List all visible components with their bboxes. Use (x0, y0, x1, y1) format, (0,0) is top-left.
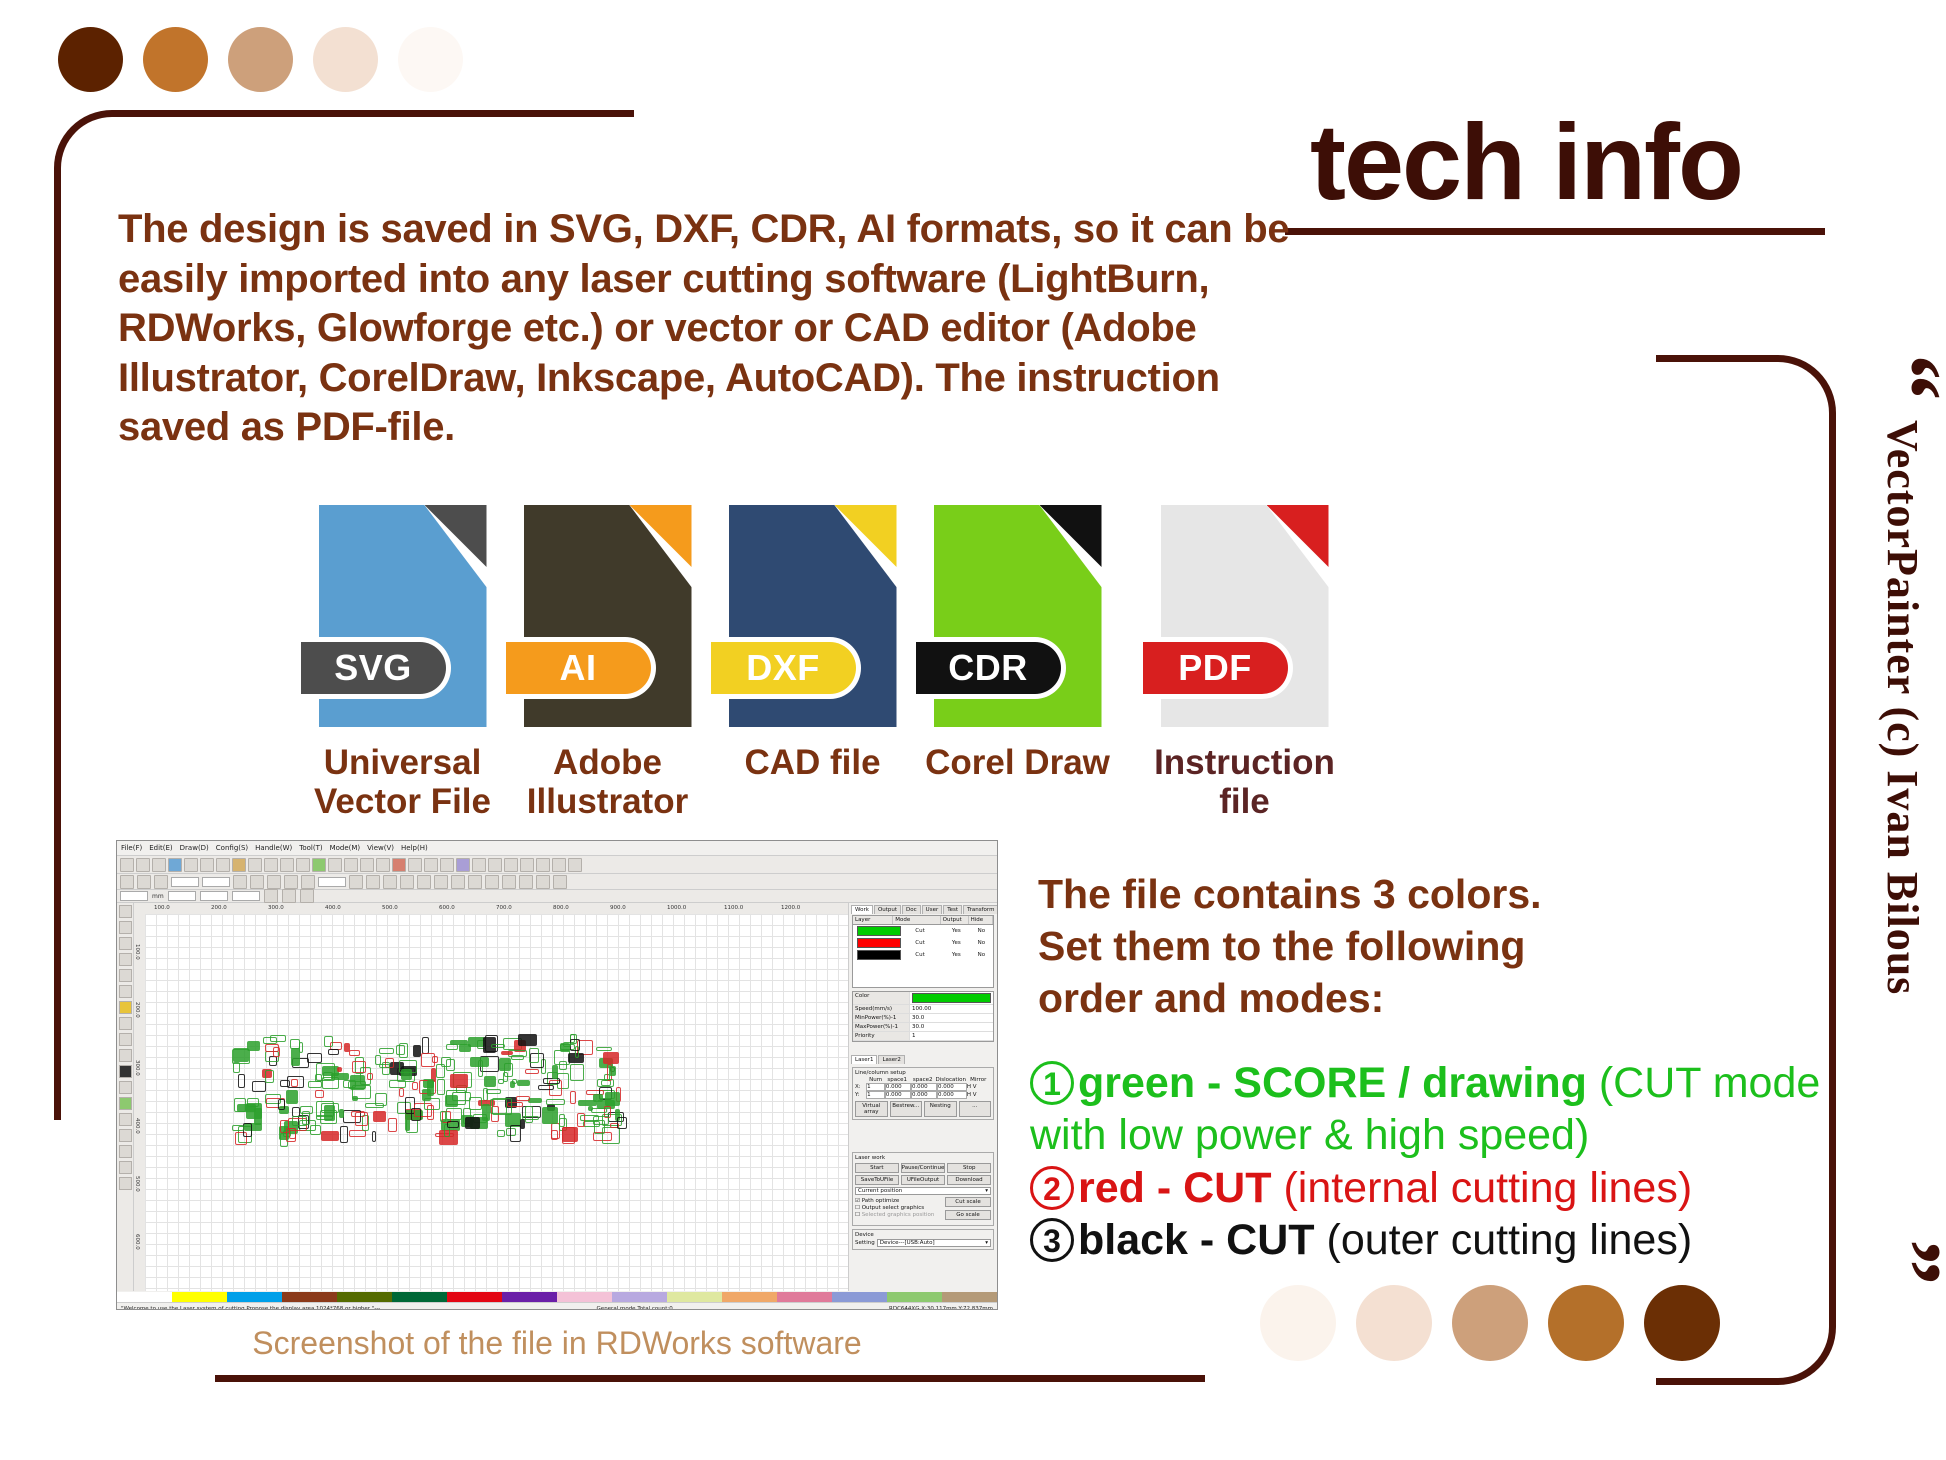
palette-swatch[interactable] (942, 1292, 997, 1302)
ruler-tick: 300.0 (268, 905, 284, 911)
palette-dot-2 (1452, 1285, 1528, 1361)
artwork-shape (596, 1047, 612, 1051)
laser-button-download[interactable]: Download (947, 1175, 991, 1185)
menu-item[interactable]: File(F) (121, 844, 142, 852)
artwork-shape (422, 1037, 430, 1054)
file-extension-badge: AI (506, 637, 656, 699)
file-format-list: SVGUniversalVector FileAIAdobeIllustrato… (300, 505, 1347, 821)
column-header: Hide (969, 916, 993, 924)
artwork-shape (450, 1074, 468, 1089)
artwork-shape (543, 1078, 560, 1084)
layer-row[interactable]: CutYesNo (853, 925, 993, 937)
artwork-shape (603, 1052, 620, 1065)
line-buttons[interactable]: Virtual arrayBestrew...Nesting... (855, 1101, 991, 1117)
palette-top (58, 27, 463, 92)
ruler-tick: 300.0 (134, 1060, 140, 1076)
artwork-shape (286, 1128, 296, 1142)
quote-open-icon: “ (1877, 354, 1941, 400)
layer-hide: No (970, 940, 993, 946)
menu-item[interactable]: Mode(M) (330, 844, 361, 852)
property-value (910, 992, 993, 1004)
ruler-tick: 800.0 (553, 905, 569, 911)
palette-swatch[interactable] (447, 1292, 502, 1302)
ruler-tick: 600.0 (439, 905, 455, 911)
axis-label: X: (855, 1084, 866, 1090)
color-mode-note: (outer cutting lines) (1315, 1216, 1693, 1264)
ruler-tick: 500.0 (134, 1176, 140, 1192)
artwork-shape (459, 1044, 471, 1052)
design-artwork[interactable] (229, 1033, 629, 1143)
step-number-badge: 2 (1030, 1166, 1074, 1210)
artwork-shape (349, 1130, 366, 1136)
rdworks-right-panel[interactable]: WorkOutputDocUserTestTransform LayerMode… (848, 903, 997, 1291)
artwork-shape (478, 1060, 483, 1077)
artwork-shape (591, 1108, 608, 1113)
artwork-shape (617, 1117, 627, 1129)
palette-swatch[interactable] (392, 1292, 447, 1302)
file-format-svg: SVGUniversalVector File (300, 505, 505, 821)
tab-work[interactable]: Work (851, 905, 873, 914)
setting-label: Setting (855, 1240, 875, 1246)
position-value: Current position (858, 1188, 902, 1194)
artwork-shape (321, 1131, 339, 1141)
rdworks-screenshot: File(F)Edit(E)Draw(D)Config(S)Handle(W)T… (116, 840, 998, 1310)
artwork-shape (232, 1125, 244, 1131)
artwork-shape (328, 1049, 339, 1055)
artwork-shape (233, 1048, 249, 1061)
rdworks-statusbar: "Welcome to use the Laser system of cutt… (117, 1302, 997, 1310)
palette-dot-3 (313, 27, 378, 92)
rdworks-tools-sidebar[interactable] (117, 903, 134, 1291)
color-mode-label: black - CUT (1078, 1216, 1315, 1264)
artwork-shape (265, 1070, 274, 1083)
artwork-shape (538, 1085, 553, 1090)
artwork-shape (401, 1069, 412, 1080)
color-palette-bar[interactable] (117, 1292, 997, 1302)
poster-root: tech info The design is saved in SVG, DX… (0, 0, 1946, 1460)
menu-item[interactable]: Tool(T) (299, 844, 322, 852)
file-format-pdf: PDFInstruction file (1142, 505, 1347, 821)
ai-file-icon: AI (524, 505, 692, 727)
menu-item[interactable]: Draw(D) (180, 844, 209, 852)
property-row[interactable]: MaxPower(%)-130.0 (853, 1023, 993, 1032)
laser-work-title: Laser work (855, 1155, 991, 1161)
status-left: "Welcome to use the Laser system of cutt… (121, 1306, 380, 1310)
credit-text: VectorPainter (c) Ivan Bilous (1877, 420, 1928, 995)
checkbox-label: Selected graphics position (862, 1212, 935, 1218)
laser-button-start[interactable]: Start (855, 1163, 899, 1173)
device-select[interactable]: Device---[USB:Auto] ▾ (877, 1239, 991, 1247)
file-extension-badge: SVG (301, 637, 451, 699)
file-format-label: UniversalVector File (300, 743, 505, 821)
artwork-shape (310, 1125, 321, 1134)
artwork-shape (372, 1131, 376, 1142)
artwork-shape (307, 1053, 322, 1063)
device-group[interactable]: Device Setting Device---[USB:Auto] ▾ (852, 1229, 994, 1250)
palette-swatch[interactable] (227, 1292, 282, 1302)
ruler-tick: 900.0 (610, 905, 626, 911)
status-right: RDC644XG,X:30.117mm,Y:72.837mm (889, 1306, 993, 1310)
checkbox-icon[interactable]: ☐ (855, 1212, 862, 1218)
tab-doc[interactable]: Doc (902, 905, 921, 914)
palette-swatch[interactable] (282, 1292, 337, 1302)
rdworks-caption: Screenshot of the file in RDWorks softwa… (116, 1325, 998, 1362)
color-mode-label: green - SCORE / drawing (1078, 1059, 1587, 1107)
artwork-shape (316, 1101, 334, 1116)
artwork-shape (286, 1090, 298, 1104)
layer-mode: Cut (897, 940, 943, 946)
artwork-shape (290, 1039, 301, 1048)
laser-button-pause-continue[interactable]: Pause/Continue (901, 1163, 946, 1173)
artwork-shape (491, 1044, 505, 1049)
chevron-down-icon[interactable]: ▾ (985, 1188, 988, 1194)
tab-output[interactable]: Output (874, 905, 901, 914)
column-header: Output (941, 916, 969, 924)
side-button-go-scale[interactable]: Go scale (945, 1210, 991, 1220)
title-underline (1285, 228, 1825, 235)
file-extension-badge: DXF (711, 637, 861, 699)
laser-button-row: StartPause/ContinueStop (855, 1163, 991, 1173)
layer-row[interactable]: CutYesNo (853, 937, 993, 949)
palette-swatch[interactable] (722, 1292, 777, 1302)
menu-item[interactable]: Help(H) (401, 844, 428, 852)
step-number-badge: 3 (1030, 1218, 1074, 1262)
tab-user[interactable]: User (922, 905, 943, 914)
color-instruction-item: 3black - CUT (outer cutting lines) (1030, 1214, 1830, 1266)
artwork-shape (450, 1040, 469, 1045)
rdworks-canvas[interactable]: 100.0200.0300.0400.0500.0600.0700.0800.0… (134, 903, 848, 1291)
file-format-label: AdobeIllustrator (505, 743, 710, 821)
artwork-shape (352, 1061, 366, 1073)
menu-item[interactable]: View(V) (367, 844, 394, 852)
page-title: tech info (1310, 108, 1742, 216)
artwork-shape (278, 1099, 285, 1110)
artwork-shape (605, 1092, 621, 1106)
layer-mode: Cut (897, 928, 943, 934)
dxf-file-icon: DXF (729, 505, 897, 727)
tab-transform[interactable]: Transform (963, 905, 998, 914)
panel-tabs[interactable]: WorkOutputDocUserTestTransform (849, 903, 997, 914)
color-swatch[interactable] (912, 993, 991, 1003)
artwork-shape (562, 1127, 579, 1142)
file-format-cdr: CDRCorel Draw (915, 505, 1120, 782)
line-field[interactable]: H V (967, 1092, 991, 1098)
property-key: Speed(mm/s) (853, 1005, 910, 1013)
artwork-shape (389, 1080, 407, 1088)
artwork-shape (563, 1042, 570, 1047)
artwork-shape (570, 1064, 583, 1081)
palette-dot-4 (398, 27, 463, 92)
artwork-shape (324, 1036, 333, 1047)
column-header (855, 1077, 867, 1083)
line-field[interactable]: 0.000 (937, 1083, 967, 1091)
property-value: 30.0 (910, 1023, 993, 1031)
artwork-shape (375, 1055, 381, 1065)
artwork-shape (546, 1099, 566, 1105)
ruler-tick: 500.0 (382, 905, 398, 911)
side-button-cut-scale[interactable]: Cut scale (945, 1197, 991, 1207)
line-field[interactable]: 0.000 (885, 1083, 911, 1091)
laser-tabs[interactable]: Laser1Laser2 (849, 1053, 997, 1064)
rdworks-toolbar-secondary[interactable] (117, 874, 997, 890)
ruler-tick: 100.0 (154, 905, 170, 911)
rdworks-menubar[interactable]: File(F)Edit(E)Draw(D)Config(S)Handle(W)T… (117, 841, 997, 856)
layer-output: Yes (943, 952, 970, 958)
menu-item[interactable]: Edit(E) (149, 844, 172, 852)
palette-swatch[interactable] (557, 1292, 612, 1302)
palette-swatch[interactable] (612, 1292, 667, 1302)
palette-dot-3 (1548, 1285, 1624, 1361)
property-value: 1 (910, 1032, 993, 1040)
palette-swatch[interactable] (777, 1292, 832, 1302)
file-format-label: Corel Draw (915, 743, 1120, 782)
artwork-shape (291, 1048, 300, 1065)
palette-dot-4 (1644, 1285, 1720, 1361)
line-field[interactable]: 0.000 (911, 1091, 937, 1099)
line-setup-row[interactable]: Y:10.0000.0000.000H V (855, 1091, 991, 1099)
artwork-shape (412, 1082, 418, 1090)
artwork-shape (379, 1064, 390, 1069)
line-button[interactable]: Virtual array (855, 1101, 888, 1117)
ruler-tick: 700.0 (496, 905, 512, 911)
laser-button-ufileoutput[interactable]: UFileOutput (901, 1175, 945, 1185)
property-key: MaxPower(%)-1 (853, 1023, 910, 1031)
svg-file-icon: SVG (319, 505, 487, 727)
device-value: Device---[USB:Auto] (880, 1240, 935, 1246)
property-value: 30.0 (910, 1014, 993, 1022)
palette-dot-0 (58, 27, 123, 92)
line-field[interactable]: 1 (866, 1083, 885, 1091)
artwork-shape (609, 1066, 616, 1076)
chevron-down-icon[interactable]: ▾ (985, 1240, 988, 1246)
artwork-shape (499, 1058, 510, 1071)
tab-laser1[interactable]: Laser1 (851, 1055, 877, 1064)
artwork-shape (501, 1051, 513, 1055)
artwork-shape (344, 1043, 351, 1052)
layer-mode: Cut (897, 952, 943, 958)
artwork-shape (516, 1096, 531, 1101)
line-field[interactable]: H V (967, 1084, 991, 1090)
artwork-shape (413, 1045, 422, 1057)
property-row[interactable]: Priority1 (853, 1032, 993, 1041)
rdworks-toolbar-main[interactable] (117, 856, 997, 874)
artwork-shape (465, 1117, 480, 1130)
line-column-title: Line/column setup (855, 1070, 991, 1076)
artwork-shape (517, 1080, 530, 1086)
line-button[interactable]: Nesting (924, 1101, 957, 1117)
line-button[interactable]: Bestrew... (890, 1101, 923, 1117)
property-row[interactable]: Color (853, 992, 993, 1005)
artwork-shape (315, 1090, 324, 1098)
decorative-frame-bottom (215, 1375, 1205, 1382)
position-select[interactable]: Current position ▾ (855, 1187, 991, 1195)
checkbox-icon[interactable]: ☑ (855, 1198, 862, 1204)
artwork-shape (437, 1079, 445, 1096)
artwork-shape (388, 1118, 398, 1132)
column-header: Mode (893, 916, 940, 924)
step-number-badge: 1 (1030, 1061, 1074, 1105)
property-value: 100.00 (910, 1005, 993, 1013)
ruler-tick: 100.0 (134, 944, 140, 960)
layer-table[interactable]: LayerModeOutputHide CutYesNoCutYesNoCutY… (852, 915, 994, 988)
line-field[interactable]: 0.000 (911, 1083, 937, 1091)
line-field[interactable]: 1 (866, 1091, 885, 1099)
ruler-tick: 600.0 (134, 1234, 140, 1250)
artwork-shape (315, 1074, 321, 1082)
file-format-dxf: DXFCAD file (710, 505, 915, 782)
artwork-shape (529, 1048, 539, 1062)
checkbox-label: Output select graphics (862, 1205, 924, 1211)
artwork-shape (525, 1069, 539, 1074)
artwork-shape (446, 1108, 463, 1120)
artwork-shape (367, 1073, 372, 1080)
artwork-shape (349, 1050, 361, 1056)
layer-output: Yes (943, 928, 970, 934)
line-button[interactable]: ... (959, 1101, 992, 1117)
column-header: Mirror (965, 1077, 991, 1083)
artwork-shape (559, 1061, 567, 1070)
cdr-file-icon: CDR (934, 505, 1102, 727)
tab-test[interactable]: Test (943, 905, 962, 914)
line-field[interactable]: 0.000 (937, 1091, 967, 1099)
device-title: Device (855, 1232, 991, 1238)
layer-row[interactable]: CutYesNo (853, 949, 993, 961)
file-format-ai: AIAdobeIllustrator (505, 505, 710, 821)
palette-swatch[interactable] (337, 1292, 392, 1302)
layer-color-swatch[interactable] (857, 938, 901, 948)
artwork-shape (452, 1092, 471, 1101)
palette-swatch[interactable] (832, 1292, 887, 1302)
rdworks-coordinate-bar[interactable]: mm (117, 890, 997, 903)
artwork-shape (238, 1074, 245, 1088)
ruler-tick: 1000.0 (667, 905, 686, 911)
file-format-label: CAD file (710, 743, 915, 782)
artwork-shape (243, 1123, 252, 1137)
menu-item[interactable]: Handle(W) (255, 844, 292, 852)
palette-swatch[interactable] (117, 1292, 172, 1302)
palette-bottom (1260, 1285, 1720, 1361)
color-instruction-item: 2red - CUT (internal cutting lines) (1030, 1162, 1830, 1214)
palette-swatch[interactable] (172, 1292, 227, 1302)
color-mode-label: red - CUT (1078, 1164, 1272, 1212)
artwork-shape (339, 1109, 344, 1117)
artwork-shape (246, 1103, 262, 1119)
colors-heading: The file contains 3 colors. Set them to … (1038, 868, 1598, 1024)
line-field[interactable]: 0.000 (885, 1091, 911, 1099)
artwork-shape (577, 1113, 585, 1127)
pdf-file-icon: PDF (1161, 505, 1329, 727)
artwork-shape (518, 1034, 537, 1045)
line-column-setup[interactable]: Line/column setup Numspace1space2Disloca… (852, 1067, 994, 1120)
axis-label: Y: (855, 1092, 866, 1098)
quote-close-icon: ” (1877, 1239, 1941, 1285)
artwork-shape (375, 1093, 387, 1105)
artwork-shape (492, 1098, 512, 1115)
file-extension-badge: CDR (916, 637, 1066, 699)
artwork-shape (373, 1111, 386, 1122)
artwork-shape (436, 1064, 445, 1079)
layer-color-swatch[interactable] (857, 950, 901, 960)
artwork-shape (355, 1112, 367, 1126)
property-row[interactable]: MinPower(%)-130.0 (853, 1014, 993, 1023)
artwork-shape (427, 1080, 434, 1095)
checkbox-row[interactable]: ☑ Path optimize (855, 1198, 943, 1204)
property-row[interactable]: Speed(mm/s)100.00 (853, 1005, 993, 1014)
laser-button-row: SaveToUFileUFileOutputDownload (855, 1175, 991, 1185)
ruler-tick: 200.0 (134, 1002, 140, 1018)
artwork-shape (411, 1108, 422, 1121)
ruler-tick: 200.0 (211, 905, 227, 911)
palette-dot-1 (143, 27, 208, 92)
artwork-shape (399, 1043, 407, 1058)
checkbox-row[interactable]: ☐ Selected graphics position (855, 1212, 943, 1218)
palette-dot-2 (228, 27, 293, 92)
layer-properties[interactable]: ColorSpeed(mm/s)100.00MinPower(%)-130.0M… (852, 991, 994, 1042)
checkbox-row[interactable]: ☐ Output select graphics (855, 1205, 943, 1211)
intro-paragraph: The design is saved in SVG, DXF, CDR, AI… (118, 205, 1328, 453)
artwork-shape (597, 1079, 613, 1088)
palette-swatch[interactable] (887, 1292, 942, 1302)
artwork-shape (570, 1091, 576, 1104)
status-mid: General mode,Total count:0 (597, 1306, 673, 1310)
artwork-shape (512, 1079, 517, 1084)
ruler-tick: 400.0 (325, 905, 341, 911)
line-setup-row[interactable]: X:10.0000.0000.000H V (855, 1083, 991, 1091)
laser-button-savetoufile[interactable]: SaveToUFile (855, 1175, 899, 1185)
file-extension-badge: PDF (1143, 637, 1293, 699)
artwork-shape (292, 1116, 308, 1126)
layer-table-header: LayerModeOutputHide (853, 916, 993, 925)
ruler-tick: 1200.0 (781, 905, 800, 911)
artwork-shape (300, 1106, 313, 1114)
laser-button-stop[interactable]: Stop (947, 1163, 991, 1173)
color-instruction-item: 1green - SCORE / drawing (CUT mode with … (1030, 1057, 1830, 1162)
checkbox-icon[interactable]: ☐ (855, 1205, 862, 1211)
artwork-shape (593, 1094, 603, 1102)
artwork-shape (486, 1089, 500, 1094)
artwork-shape (340, 1126, 348, 1143)
artwork-shape (322, 1077, 339, 1090)
layer-color-swatch[interactable] (857, 926, 901, 936)
ruler-tick: 400.0 (134, 1118, 140, 1134)
menu-item[interactable]: Config(S) (216, 844, 248, 852)
artwork-shape (503, 1072, 508, 1082)
ruler-tick: 1100.0 (724, 905, 743, 911)
tab-laser2[interactable]: Laser2 (878, 1055, 904, 1064)
laser-work-group[interactable]: Laser work StartPause/ContinueStopSaveTo… (852, 1152, 994, 1226)
artwork-shape (352, 1096, 359, 1101)
layer-hide: No (970, 928, 993, 934)
artwork-shape (497, 1130, 505, 1137)
artwork-shape (520, 1119, 525, 1129)
palette-swatch[interactable] (502, 1292, 557, 1302)
palette-swatch[interactable] (667, 1292, 722, 1302)
artwork-shape (447, 1121, 458, 1128)
artwork-shape (343, 1080, 356, 1088)
palette-dot-0 (1260, 1285, 1336, 1361)
color-instruction-list: 1green - SCORE / drawing (CUT mode with … (1030, 1057, 1830, 1267)
artwork-shape (542, 1107, 558, 1124)
artwork-shape (421, 1053, 435, 1067)
artwork-shape (593, 1116, 609, 1125)
artwork-shape (379, 1048, 395, 1055)
checkbox-label: Path optimize (862, 1198, 900, 1204)
artwork-shape (252, 1081, 265, 1092)
property-key: Priority (853, 1032, 910, 1040)
palette-dot-1 (1356, 1285, 1432, 1361)
artwork-shape (287, 1076, 304, 1088)
artwork-shape (484, 1076, 497, 1087)
